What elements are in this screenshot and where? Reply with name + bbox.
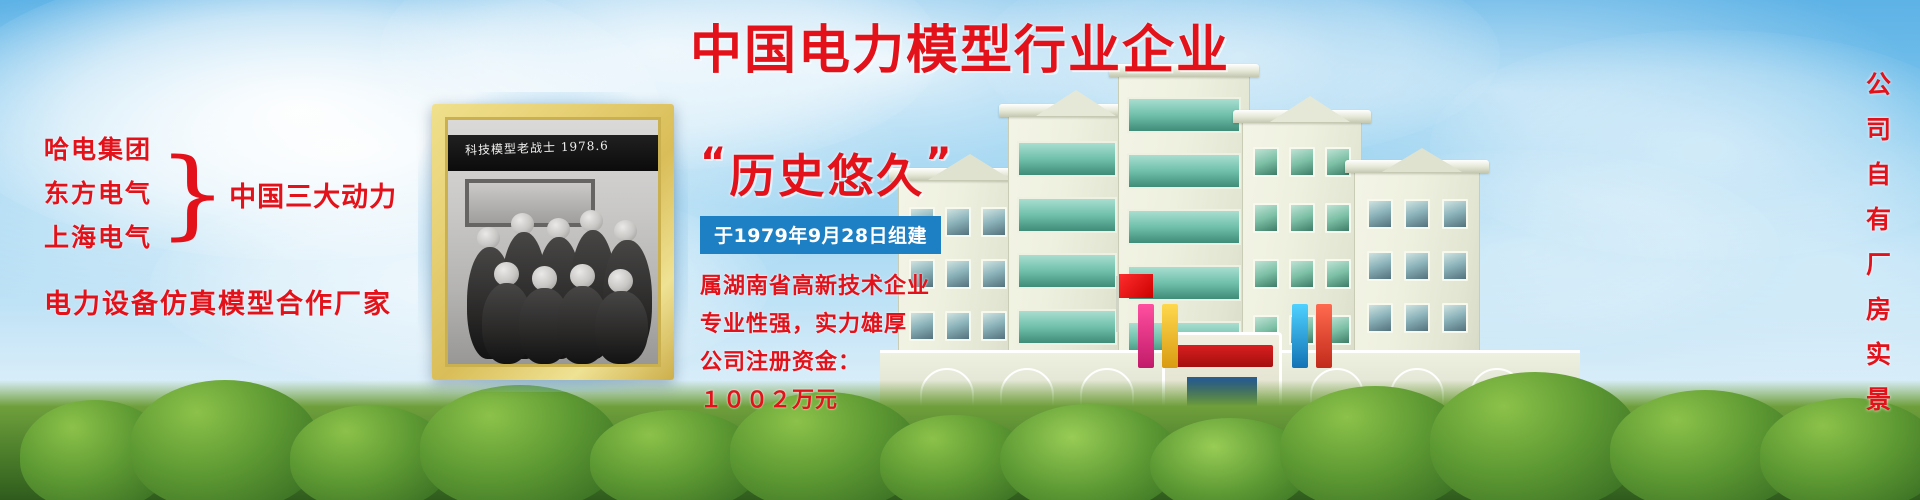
brand-item-0: 哈电集团 [44, 128, 152, 172]
vertical-char-7: 景 [1866, 377, 1892, 422]
close-quote: ” [925, 140, 954, 186]
headline-history: “历史悠久” [700, 140, 1000, 206]
vertical-char-5: 房 [1866, 287, 1892, 332]
brand-list: 哈电集团 东方电气 上海电气 [44, 128, 152, 260]
open-quote: “ [700, 140, 729, 186]
building-gable [1036, 90, 1116, 116]
middle-detail-lines: 属湖南省高新技术企业 专业性强，实力雄厚 公司注册资金： １００２万元 [700, 268, 1000, 420]
photo-frame-inner: 科技模型老战士 1978.6 [445, 117, 661, 367]
detail-line-0: 属湖南省高新技术企业 [700, 268, 1000, 306]
group-label: 中国三大动力 [229, 175, 397, 214]
vertical-char-0: 公 [1866, 62, 1892, 107]
detail-line-1: 专业性强，实力雄厚 [700, 306, 1000, 344]
brand-item-1: 东方电气 [44, 172, 152, 216]
right-vertical-caption: 公 司 自 有 厂 房 实 景 [1866, 62, 1892, 422]
vertical-char-6: 实 [1866, 332, 1892, 377]
brand-item-2: 上海电气 [44, 216, 152, 260]
cooperation-line: 电力设备仿真模型合作厂家 [44, 282, 464, 321]
red-flag-icon [1119, 274, 1153, 298]
middle-text-block: “历史悠久” 于1979年9月28日组建 属湖南省高新技术企业 专业性强，实力雄… [700, 140, 1000, 420]
founding-date-badge: 于1979年9月28日组建 [700, 216, 941, 254]
historical-photo-frame: 科技模型老战士 1978.6 [432, 104, 674, 380]
page-title: 中国电力模型行业企业 [0, 8, 1920, 83]
historical-group-photo: 科技模型老战士 1978.6 [448, 120, 658, 364]
detail-line-2: 公司注册资金： [700, 344, 1000, 382]
vertical-char-3: 有 [1866, 197, 1892, 242]
left-text-block: 哈电集团 东方电气 上海电气 }中国三大动力 电力设备仿真模型合作厂家 [44, 128, 464, 321]
photo-banner: 科技模型老战士 1978.6 [448, 135, 658, 172]
company-banner: 中国电力模型行业企业 哈电集团 东方电气 上海电气 }中国三大动力 电力设备仿真… [0, 0, 1920, 500]
vertical-char-4: 厂 [1866, 242, 1892, 287]
vertical-char-2: 自 [1866, 152, 1892, 197]
detail-line-3: １００２万元 [700, 382, 1000, 420]
building-gable [1382, 148, 1462, 172]
headline-text: 历史悠久 [729, 149, 925, 203]
building-gable [1270, 96, 1350, 122]
vertical-char-1: 司 [1866, 107, 1892, 152]
photo-banner-text: 科技模型老战士 1978.6 [465, 137, 609, 159]
curly-brace-icon: } [157, 139, 227, 249]
